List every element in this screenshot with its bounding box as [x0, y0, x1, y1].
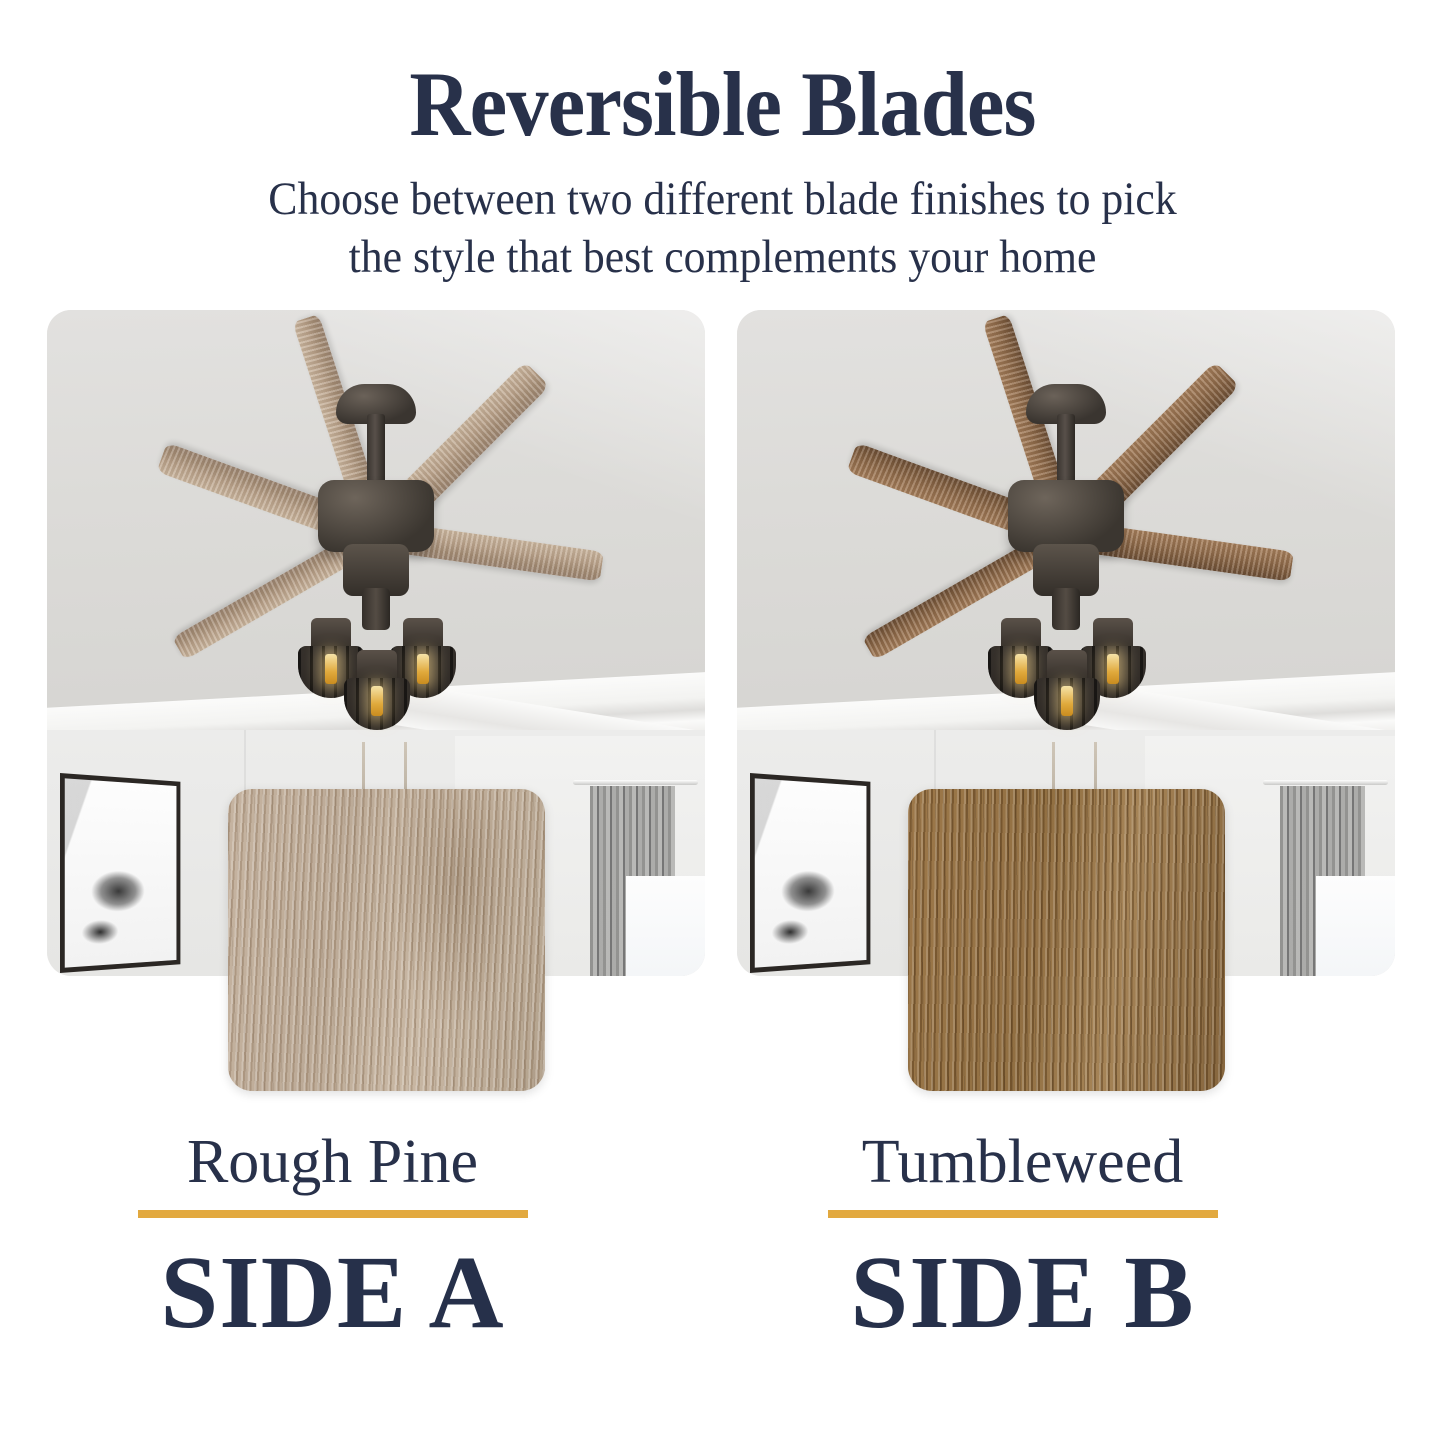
caged-light	[344, 650, 410, 742]
finish-name-side-a: Rough Pine	[40, 1130, 625, 1195]
light-kit-stem	[1052, 588, 1080, 630]
subtitle-line-1: Choose between two different blade finis…	[51, 170, 1395, 228]
infographic-page: Reversible Blades Choose between two dif…	[0, 0, 1445, 1445]
edison-bulb	[325, 654, 337, 684]
framed-artwork	[750, 773, 871, 973]
artwork-image	[65, 778, 177, 967]
label-column-side-b: Tumbleweed SIDE B	[730, 1130, 1315, 1347]
side-label-b: SIDE B	[730, 1238, 1315, 1347]
edison-bulb	[371, 686, 383, 716]
page-subtitle: Choose between two different blade finis…	[51, 170, 1395, 287]
edison-bulb	[1107, 654, 1119, 684]
wood-swatch-rough-pine[interactable]	[228, 789, 545, 1091]
edison-bulb	[417, 654, 429, 684]
gold-divider	[138, 1210, 528, 1218]
light-kit-stem	[362, 588, 390, 630]
wood-grain-texture	[908, 789, 1225, 1091]
gold-divider	[828, 1210, 1218, 1218]
header: Reversible Blades Choose between two dif…	[0, 0, 1445, 287]
page-title: Reversible Blades	[58, 58, 1387, 150]
side-label-a: SIDE A	[40, 1238, 625, 1347]
edison-bulb	[1015, 654, 1027, 684]
subtitle-line-2: the style that best complements your hom…	[51, 228, 1395, 286]
edison-bulb	[1061, 686, 1073, 716]
curtain-rod	[1263, 780, 1388, 785]
curtain-rod	[573, 780, 698, 785]
wood-swatch-tumbleweed[interactable]	[908, 789, 1225, 1091]
window	[626, 876, 705, 976]
fan-motor-housing	[318, 480, 434, 552]
window	[1316, 876, 1395, 976]
finish-name-side-b: Tumbleweed	[730, 1130, 1315, 1195]
fan-motor-housing	[1008, 480, 1124, 552]
wood-grain-texture	[228, 789, 545, 1091]
framed-artwork	[60, 773, 181, 973]
artwork-image	[755, 778, 867, 967]
label-column-side-a: Rough Pine SIDE A	[40, 1130, 625, 1347]
caged-light	[1034, 650, 1100, 742]
